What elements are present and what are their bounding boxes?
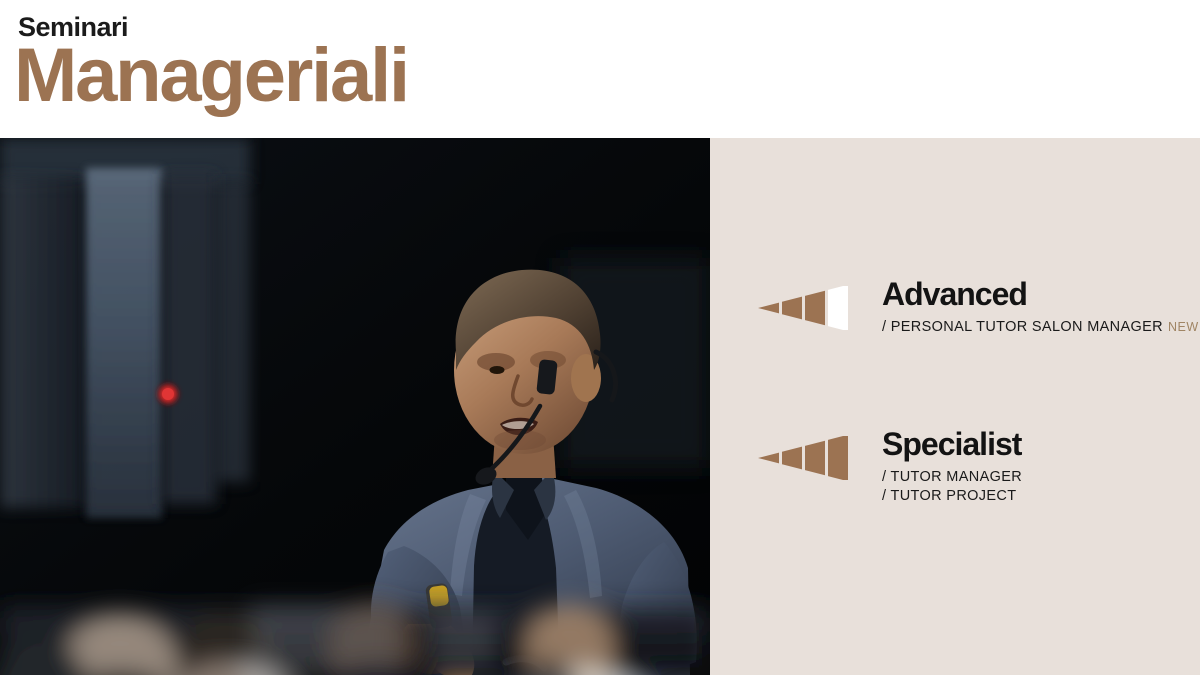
level-text-specialist: Specialist / TUTOR MANAGER / TUTOR PROJE… bbox=[882, 428, 1200, 506]
list-item[interactable]: / TUTOR MANAGER bbox=[882, 468, 1200, 487]
stage-speaker-photo bbox=[0, 138, 710, 675]
course-levels-panel: Advanced / PERSONAL TUTOR SALON MANAGERN… bbox=[710, 138, 1200, 675]
level-text-advanced: Advanced / PERSONAL TUTOR SALON MANAGERN… bbox=[882, 278, 1200, 337]
course-label: / PERSONAL TUTOR SALON MANAGER bbox=[882, 319, 1163, 335]
page-title: Manageriali bbox=[14, 38, 408, 114]
course-list: / TUTOR MANAGER / TUTOR PROJECT bbox=[882, 468, 1200, 506]
level-title: Specialist bbox=[882, 428, 1200, 462]
course-list: / PERSONAL TUTOR SALON MANAGERNEW bbox=[882, 318, 1200, 337]
slide-header: Seminari Manageriali bbox=[0, 0, 1200, 138]
course-label: / TUTOR MANAGER bbox=[882, 469, 1022, 485]
wedge-arrow-left-3of4-icon bbox=[758, 286, 854, 330]
list-item[interactable]: / PERSONAL TUTOR SALON MANAGERNEW bbox=[882, 318, 1200, 337]
status-badge: NEW bbox=[1168, 320, 1199, 334]
course-label: / TUTOR PROJECT bbox=[882, 488, 1016, 504]
list-item[interactable]: / TUTOR PROJECT bbox=[882, 487, 1200, 506]
wedge-arrow-left-4of4-icon bbox=[758, 436, 854, 480]
slide-root: Seminari Manageriali bbox=[0, 0, 1200, 675]
level-title: Advanced bbox=[882, 278, 1200, 312]
